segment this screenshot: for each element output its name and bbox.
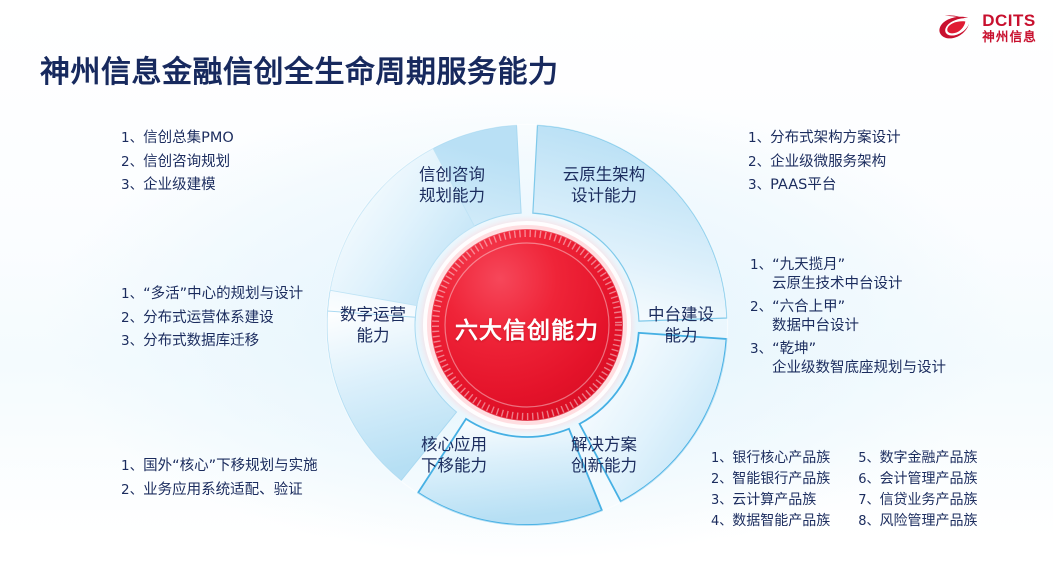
callout-bottom-right: 1、 银行核心产品族 2、 智能银行产品族 3、 云计算产品族 4、 数据智能产… — [711, 451, 978, 535]
item-number: 5、 — [858, 452, 879, 465]
item-number: 2、 — [711, 473, 732, 486]
item-text: 分布式数据库迁移 — [143, 334, 259, 349]
item-text: 分布式架构方案设计 — [770, 131, 901, 146]
item-number: 4、 — [711, 515, 732, 528]
list-item: 1、 “九天揽月” — [750, 258, 946, 273]
logo-brand-cn: 神州信息 — [982, 31, 1037, 44]
capability-wheel: 信创咨询 规划能力 云原生架构 设计能力 中台建设 能力 解决方案 创新能力 核… — [310, 118, 744, 532]
center-tick — [537, 412, 538, 419]
center-tick — [535, 230, 536, 237]
item-number: 7、 — [858, 494, 879, 507]
list-item: 3、 “乾坤” — [750, 342, 946, 357]
item-number: 1、 — [121, 132, 143, 146]
callout-top-left: 1、 信创总集PMO 2、 信创咨询规划 3、 企业级建模 — [121, 131, 234, 202]
list-item: 6、 会计管理产品族 — [858, 472, 977, 486]
item-number: 2、 — [121, 312, 143, 326]
item-text: “多活”中心的规划与设计 — [143, 287, 303, 302]
item-number: 2、 — [748, 156, 770, 170]
product-family-column-b: 5、 数字金融产品族 6、 会计管理产品族 7、 信贷业务产品族 8、 风险管理… — [858, 451, 977, 535]
list-item: 2、 智能银行产品族 — [711, 472, 830, 486]
wheel-center-label: 六大信创能力 — [427, 311, 627, 345]
callout-mid-right: 1、 “九天揽月” 云原生技术中台设计 2、 “六合上甲” 数据中台设计 3、 … — [750, 258, 946, 384]
item-number: 1、 — [121, 460, 143, 474]
item-text: 风险管理产品族 — [880, 514, 978, 528]
list-item: 1、 分布式架构方案设计 — [748, 131, 901, 146]
item-text: 银行核心产品族 — [732, 451, 830, 465]
item-text: 企业级建模 — [143, 178, 216, 193]
product-family-column-a: 1、 银行核心产品族 2、 智能银行产品族 3、 云计算产品族 4、 数据智能产… — [711, 451, 830, 535]
list-item: 1、 国外“核心”下移规划与实施 — [121, 459, 318, 474]
item-number: 1、 — [121, 288, 143, 302]
list-item: 3、 PAAS平台 — [748, 178, 901, 193]
center-tick — [520, 230, 521, 237]
item-number: 3、 — [121, 335, 143, 349]
item-number: 2、 — [750, 301, 772, 315]
logo-brand-en: DCITS — [982, 12, 1037, 29]
center-tick — [517, 413, 518, 420]
callout-top-right: 1、 分布式架构方案设计 2、 企业级微服务架构 3、 PAAS平台 — [748, 131, 901, 202]
item-number: 1、 — [750, 259, 772, 273]
center-tick — [514, 231, 515, 238]
list-item: 3、 分布式数据库迁移 — [121, 334, 303, 349]
list-item: 2、 信创咨询规划 — [121, 155, 234, 170]
list-item: 1、 银行核心产品族 — [711, 451, 830, 465]
item-number: 2、 — [121, 156, 143, 170]
item-text: 数字金融产品族 — [880, 451, 978, 465]
item-text: 智能银行产品族 — [732, 472, 830, 486]
item-text: “六合上甲” — [772, 300, 845, 315]
wheel-segment-solution[interactable] — [418, 419, 602, 525]
list-item: 5、 数字金融产品族 — [858, 451, 977, 465]
item-text: 信创咨询规划 — [143, 155, 230, 170]
item-number: 6、 — [858, 473, 879, 486]
item-number: 1、 — [711, 452, 732, 465]
list-item: 4、 数据智能产品族 — [711, 514, 830, 528]
item-text: 国外“核心”下移规划与实施 — [143, 459, 318, 474]
item-number: 3、 — [748, 179, 770, 193]
swoosh-icon — [937, 13, 975, 43]
item-text: “乾坤” — [772, 342, 816, 357]
item-number: 8、 — [858, 515, 879, 528]
item-subtext: 云原生技术中台设计 — [772, 277, 946, 292]
callout-mid-left: 1、 “多活”中心的规划与设计 2、 分布式运营体系建设 3、 分布式数据库迁移 — [121, 287, 303, 358]
item-text: 信贷业务产品族 — [880, 493, 978, 507]
item-text: 云计算产品族 — [732, 493, 816, 507]
list-item: 8、 风险管理产品族 — [858, 514, 977, 528]
list-item: 2、 分布式运营体系建设 — [121, 311, 303, 326]
list-item: 2、 企业级微服务架构 — [748, 155, 901, 170]
item-text: 数据智能产品族 — [732, 514, 830, 528]
list-item: 1、 信创总集PMO — [121, 131, 234, 146]
list-item: 3、 企业级建模 — [121, 178, 234, 193]
item-number: 3、 — [121, 179, 143, 193]
item-text: PAAS平台 — [770, 178, 836, 193]
list-item: 2、 “六合上甲” — [750, 300, 946, 315]
page-title: 神州信息金融信创全生命周期服务能力 — [40, 47, 559, 91]
item-text: 信创总集PMO — [143, 131, 234, 146]
item-text: 企业级微服务架构 — [770, 155, 886, 170]
list-item: 2、 业务应用系统适配、验证 — [121, 483, 318, 498]
list-item: 7、 信贷业务产品族 — [858, 493, 977, 507]
list-item: 3、 云计算产品族 — [711, 493, 830, 507]
list-item: 1、 “多活”中心的规划与设计 — [121, 287, 303, 302]
item-text: 会计管理产品族 — [880, 472, 978, 486]
callout-bottom-left: 1、 国外“核心”下移规划与实施 2、 业务应用系统适配、验证 — [121, 459, 318, 506]
slide-canvas: DCITS 神州信息 神州信息金融信创全生命周期服务能力 — [0, 0, 1053, 584]
item-subtext: 企业级数智底座规划与设计 — [772, 361, 946, 376]
item-text: 分布式运营体系建设 — [143, 311, 274, 326]
item-number: 1、 — [748, 132, 770, 146]
item-text: 业务应用系统适配、验证 — [143, 483, 303, 498]
item-number: 2、 — [121, 484, 143, 498]
item-subtext: 数据中台设计 — [772, 319, 946, 334]
dcits-logo: DCITS 神州信息 — [937, 12, 1037, 44]
item-text: “九天揽月” — [772, 258, 845, 273]
item-number: 3、 — [711, 494, 732, 507]
item-number: 3、 — [750, 343, 772, 357]
